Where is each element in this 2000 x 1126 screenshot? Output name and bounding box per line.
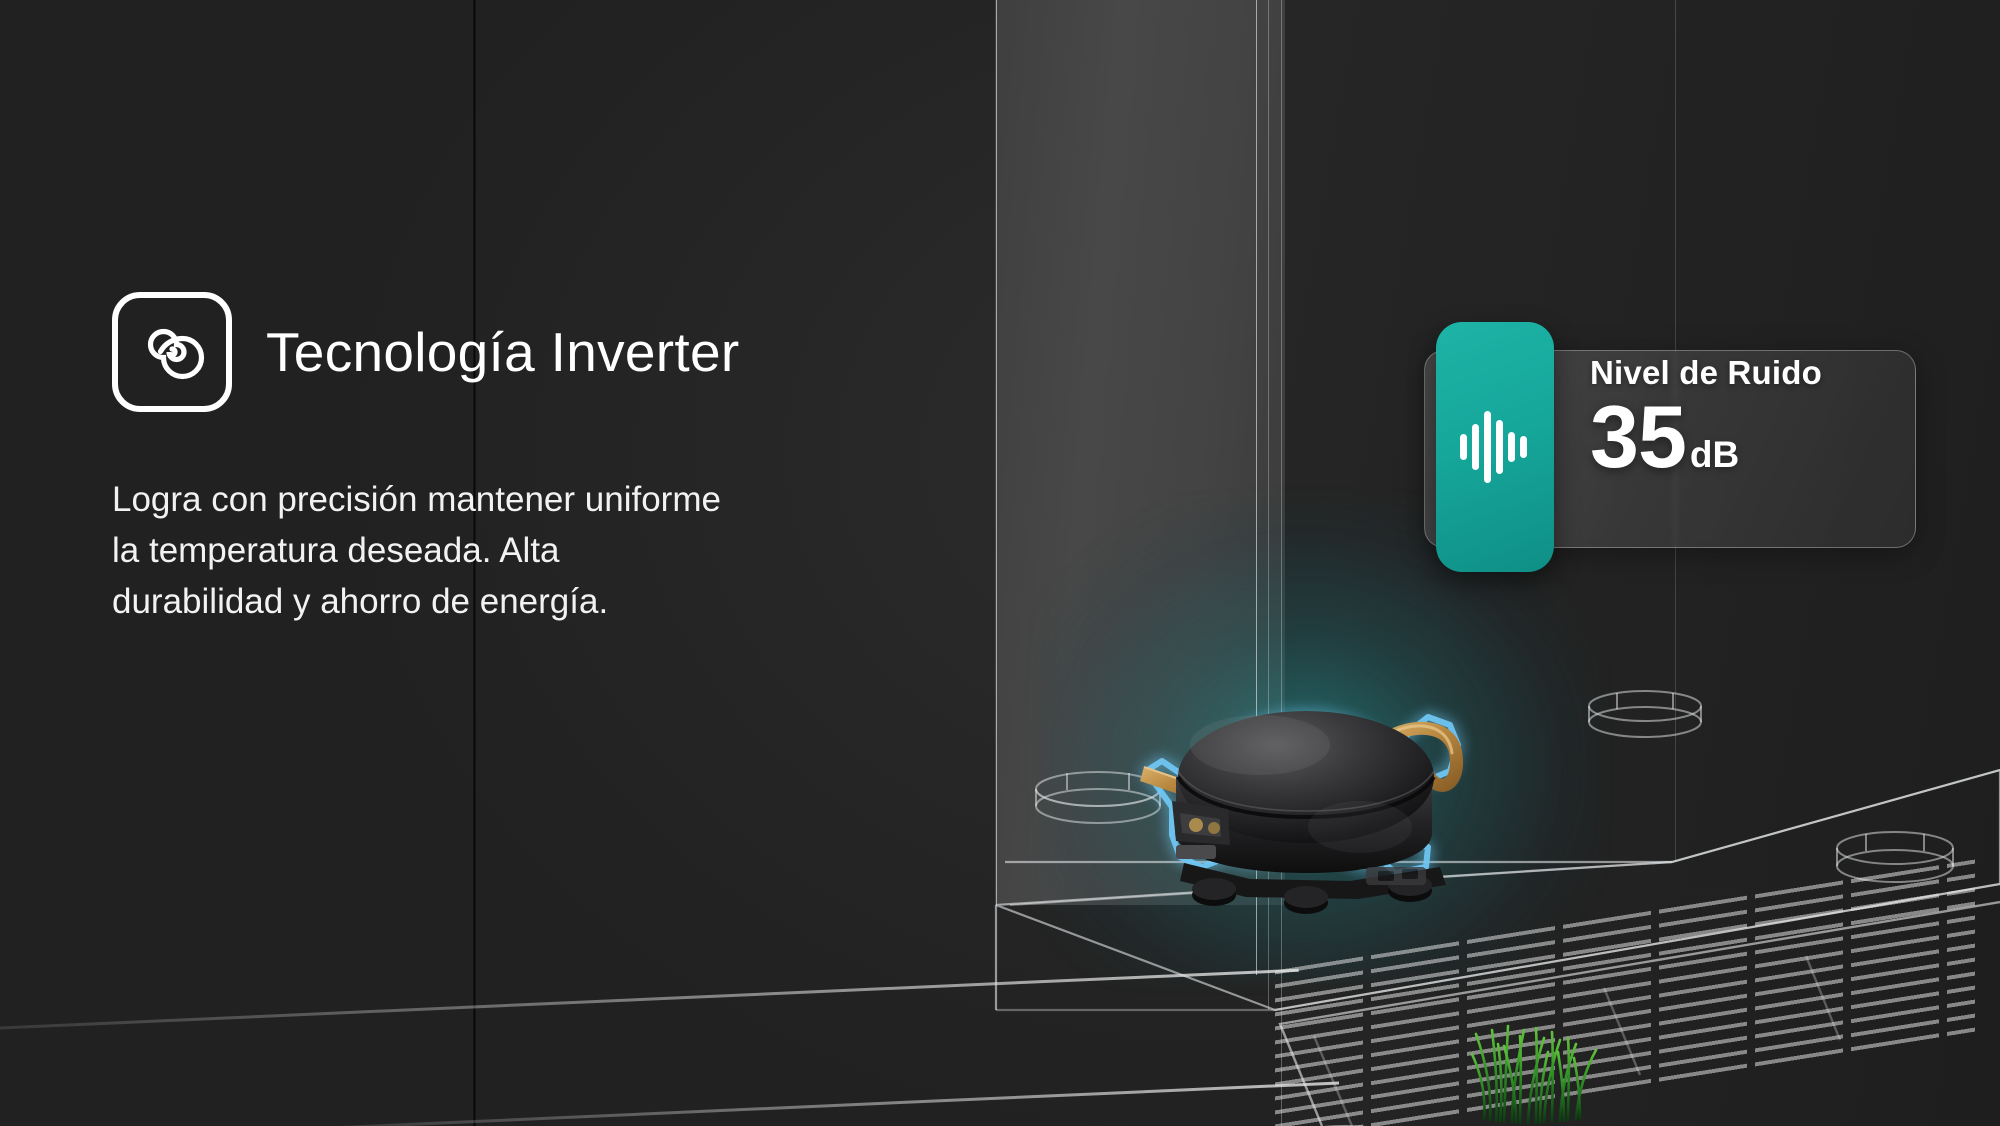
description-line-1: Logra con precisión mantener uniforme	[112, 474, 902, 525]
feature-header: Tecnología Inverter	[112, 292, 932, 412]
wireframe-vline-1	[996, 0, 997, 905]
noise-level-value: 35	[1590, 393, 1686, 481]
sound-wave-icon	[1458, 408, 1532, 486]
noise-badge-icon-tile	[1436, 322, 1554, 572]
wireframe-vline-4	[1281, 0, 1282, 1126]
inverter-compressor	[1110, 595, 1510, 925]
feature-description: Logra con precisión mantener uniforme la…	[112, 474, 902, 627]
feature-text-block: Tecnología Inverter Logra con precisión …	[112, 292, 932, 627]
description-line-3: durabilidad y ahorro de energía.	[112, 576, 902, 627]
noise-badge-text: Nivel de Ruido 35 dB	[1590, 356, 1910, 542]
noise-level-label: Nivel de Ruido	[1590, 356, 1910, 389]
description-line-2: la temperatura deseada. Alta	[112, 525, 902, 576]
noise-level-badge: Nivel de Ruido 35 dB	[1412, 322, 1922, 572]
spiral-glyph	[133, 313, 211, 391]
inverter-technology-banner: Tecnología Inverter Logra con precisión …	[0, 0, 2000, 1126]
inverter-spiral-icon	[112, 292, 232, 412]
grass-tuft	[1450, 1000, 1640, 1126]
feature-title: Tecnología Inverter	[266, 320, 739, 384]
noise-level-reading: 35 dB	[1590, 393, 1910, 481]
noise-level-unit: dB	[1690, 434, 1739, 476]
